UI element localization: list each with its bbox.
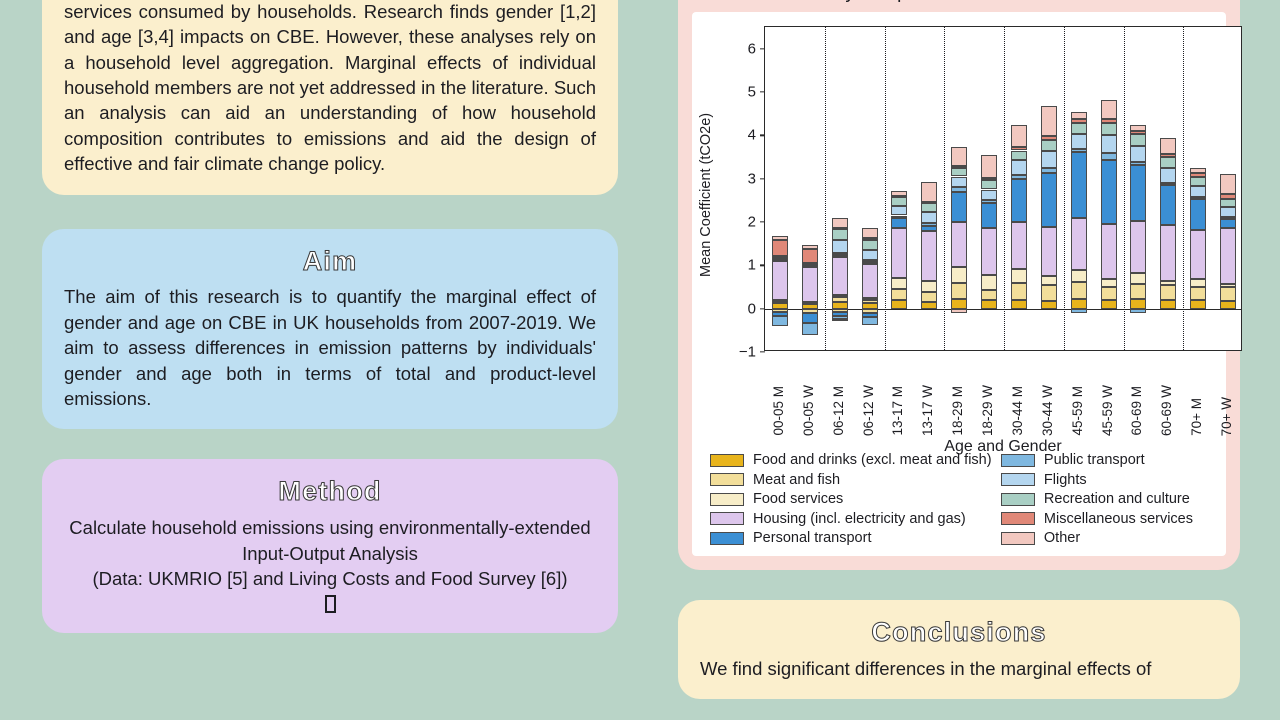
y-tick-mark [760, 178, 765, 179]
bar-stack [1011, 27, 1027, 352]
legend-column-left: Food and drinks (excl. meat and fish)Mea… [710, 452, 1001, 546]
bar-segment [1101, 287, 1117, 300]
method-panel: Method Calculate household emissions usi… [42, 459, 618, 633]
x-tick-label: 45-59 M [1070, 386, 1085, 436]
bar-segment [802, 302, 818, 304]
bar-segment [1041, 136, 1057, 140]
bar-segment [951, 177, 967, 188]
bar-segment [921, 202, 937, 204]
bar-segment [1041, 168, 1057, 174]
bar-segment [951, 283, 967, 299]
bar-segment [1220, 207, 1236, 217]
legend-swatch [1001, 473, 1035, 486]
y-tick-label: 3 [748, 170, 756, 187]
conclusions-panel: Conclusions We find significant differen… [678, 600, 1240, 699]
bar-segment [772, 261, 788, 299]
bar-segment [921, 226, 937, 231]
introduction-panel: gender and age differences of consumptio… [42, 0, 618, 195]
y-tick-mark [760, 265, 765, 266]
legend-label: Housing (incl. electricity and gas) [753, 511, 966, 527]
bar-segment [1041, 140, 1057, 151]
bar-stack [1071, 27, 1087, 352]
missing-glyph-icon [64, 595, 596, 615]
bar-segment [981, 275, 997, 289]
bar-stack [1130, 27, 1146, 352]
bar-segment [1071, 149, 1087, 152]
legend-swatch [710, 454, 744, 467]
bar-segment [1071, 152, 1087, 218]
conclusions-text: We find significant differences in the m… [700, 656, 1218, 681]
bar-segment [1130, 131, 1146, 134]
legend-label: Recreation and culture [1044, 491, 1190, 507]
bar-segment [891, 278, 907, 288]
bar-segment [1071, 299, 1087, 309]
bar-segment [1220, 301, 1236, 308]
bar-segment [1190, 186, 1206, 197]
introduction-text: gender and age differences of consumptio… [64, 0, 596, 177]
legend-item: Food services [710, 491, 1001, 507]
legend-label: Miscellaneous services [1044, 511, 1193, 527]
bar-segment [862, 264, 878, 299]
bar-segment [981, 178, 997, 180]
bar-segment [1011, 160, 1027, 174]
bar-segment [951, 168, 967, 177]
legend-item: Recreation and culture [1001, 491, 1210, 507]
bar-segment [862, 298, 878, 300]
bar-segment [772, 300, 788, 302]
bar-segment-negative [1130, 309, 1146, 314]
spacer [42, 195, 618, 229]
x-tick-label: 00-05 M [771, 386, 786, 436]
bar-segment [951, 299, 967, 309]
bar-segment [951, 187, 967, 191]
bar-segment [832, 240, 848, 253]
bar-segment [1071, 123, 1087, 134]
bar-segment [1220, 219, 1236, 229]
bar-segment [1220, 194, 1236, 199]
group-divider [885, 27, 886, 350]
method-line-2: (Data: UKMRIO [5] and Living Costs and F… [64, 566, 596, 591]
legend-swatch [1001, 512, 1035, 525]
y-axis-label: Mean Coefficient (tCO2e) [698, 60, 720, 330]
results-panel: Differences vary at a product level Mean… [678, 0, 1240, 570]
bar-segment [862, 238, 878, 240]
bar-segment [1011, 125, 1027, 147]
spacer [42, 429, 618, 459]
results-bullet: Differences vary at a product level [692, 0, 1226, 4]
bar-segment [1130, 284, 1146, 299]
left-column: gender and age differences of consumptio… [42, 0, 618, 633]
bar-segment-negative [772, 316, 788, 326]
group-divider [1064, 27, 1065, 350]
bar-segment [1160, 225, 1176, 280]
bar-segment [1041, 106, 1057, 136]
x-tick-label: 06-12 W [861, 385, 876, 436]
bar-segment [1160, 168, 1176, 183]
bar-segment [772, 236, 788, 240]
right-column: Differences vary at a product level Mean… [678, 0, 1240, 699]
legend-swatch [710, 473, 744, 486]
bar-segment [1160, 285, 1176, 300]
bar-segment [981, 155, 997, 178]
bar-stack [1220, 27, 1236, 352]
bar-segment [1130, 273, 1146, 284]
bar-segment [1071, 270, 1087, 283]
y-tick-label: 2 [748, 214, 756, 231]
y-tick-mark [760, 221, 765, 222]
bar-segment [1160, 138, 1176, 154]
y-tick-label: 5 [748, 84, 756, 101]
bar-segment [832, 255, 848, 257]
bar-segment [1101, 119, 1117, 123]
aim-title: Aim [64, 245, 596, 279]
legend-label: Personal transport [753, 530, 871, 546]
aim-text: The aim of this research is to quantify … [64, 284, 596, 411]
bar-segment [1220, 228, 1236, 284]
bar-segment [832, 229, 848, 240]
conclusions-title: Conclusions [700, 616, 1218, 650]
bar-segment [951, 166, 967, 168]
bar-segment [1071, 218, 1087, 270]
group-divider [1183, 27, 1184, 350]
bar-segment [1041, 173, 1057, 226]
bar-stack [1160, 27, 1176, 352]
legend-swatch [710, 512, 744, 525]
legend-label: Other [1044, 530, 1080, 546]
bar-segment [1130, 146, 1146, 162]
bar-segment [772, 256, 788, 258]
y-tick-label: −1 [739, 344, 756, 361]
bar-segment [772, 240, 788, 256]
bar-segment-negative [1071, 309, 1087, 313]
bar-segment [921, 203, 937, 212]
bar-segment [1130, 221, 1146, 273]
bar-segment [1130, 134, 1146, 146]
bar-segment [1160, 154, 1176, 157]
bar-segment [1101, 279, 1117, 287]
bar-segment [921, 212, 937, 224]
figure-container: Mean Coefficient (tCO2e) −10123456 00-05… [692, 12, 1226, 556]
bar-stack [921, 27, 937, 352]
x-tick-label: 00-05 W [801, 385, 816, 436]
bar-segment [1130, 165, 1146, 221]
bar-segment [1041, 301, 1057, 309]
bar-segment [832, 302, 848, 309]
legend-label: Flights [1044, 472, 1087, 488]
bar-segment [1160, 157, 1176, 167]
bar-segment [891, 206, 907, 216]
bar-segment [1190, 300, 1206, 308]
bar-segment [832, 257, 848, 295]
bar-segment [1220, 199, 1236, 208]
x-tick-label: 13-17 W [920, 385, 935, 436]
bar-stack [891, 27, 907, 352]
bar-segment [1011, 151, 1027, 161]
bar-segment [832, 295, 848, 297]
y-tick-mark [760, 48, 765, 49]
group-divider [944, 27, 945, 350]
bar-segment [1011, 283, 1027, 299]
legend-label: Food services [753, 491, 843, 507]
x-tick-label: 06-12 M [831, 386, 846, 436]
bar-segment [862, 250, 878, 260]
x-tick-label: 18-29 M [950, 386, 965, 436]
y-tick-label: 0 [748, 300, 756, 317]
poster-root: gender and age differences of consumptio… [0, 0, 1280, 720]
bar-segment [1101, 100, 1117, 119]
bar-segment [891, 218, 907, 228]
x-tick-label: 60-69 M [1129, 386, 1144, 436]
bar-segment [1160, 300, 1176, 309]
bar-segment [1041, 285, 1057, 301]
bar-segment [1011, 300, 1027, 309]
bar-segment [951, 192, 967, 222]
bar-segment-negative [802, 323, 818, 335]
y-tick-label: 4 [748, 127, 756, 144]
group-divider [825, 27, 826, 350]
legend-item: Other [1001, 530, 1210, 546]
bar-segment [862, 260, 878, 262]
bar-segment [1190, 177, 1206, 186]
bar-segment [981, 200, 997, 203]
bar-segment [1130, 299, 1146, 309]
x-axis-ticks: 00-05 M00-05 W06-12 M06-12 W13-17 M13-17… [764, 356, 1242, 436]
aim-panel: Aim The aim of this research is to quant… [42, 229, 618, 430]
x-tick-label: 30-44 W [1040, 385, 1055, 436]
bar-segment [1101, 300, 1117, 309]
bar-segment [981, 228, 997, 275]
bar-segment [921, 182, 937, 202]
bar-segment [1220, 217, 1236, 219]
stacked-bar-chart: Mean Coefficient (tCO2e) −10123456 00-05… [696, 20, 1216, 450]
bar-segment [832, 253, 848, 255]
bar-segment [891, 300, 907, 309]
bar-segment [802, 263, 818, 265]
bar-segment [1011, 269, 1027, 283]
bar-segment [1101, 123, 1117, 135]
bar-segment [981, 290, 997, 301]
bar-segment [1190, 279, 1206, 287]
x-tick-label: 18-29 W [980, 385, 995, 436]
bar-stack [862, 27, 878, 352]
bar-segment [921, 281, 937, 292]
legend-swatch [1001, 493, 1035, 506]
x-tick-label: 60-69 W [1159, 385, 1174, 436]
bar-stack [1101, 27, 1117, 352]
bar-segment [1190, 197, 1206, 199]
bar-segment [1130, 162, 1146, 165]
bar-segment [921, 302, 937, 309]
bar-stack [802, 27, 818, 352]
bar-segment [1011, 222, 1027, 269]
bar-segment [1160, 185, 1176, 225]
bar-segment [921, 223, 937, 226]
bar-segment-negative [862, 317, 878, 325]
bar-segment [891, 228, 907, 278]
bar-segment [1220, 284, 1236, 287]
legend-label: Meat and fish [753, 472, 840, 488]
bar-segment [891, 289, 907, 300]
bar-segment [1071, 119, 1087, 123]
group-divider [1124, 27, 1125, 350]
x-tick-label: 45-59 W [1100, 385, 1115, 436]
bar-segment [1071, 112, 1087, 119]
x-tick-label: 70+ M [1189, 398, 1204, 436]
bar-stack [1190, 27, 1206, 352]
legend-swatch [710, 532, 744, 545]
bar-segment [891, 216, 907, 218]
legend-swatch [710, 493, 744, 506]
bar-segment [1160, 281, 1176, 285]
y-tick-mark [760, 135, 765, 136]
bar-segment [981, 190, 997, 201]
x-axis-label: Age and Gender [764, 438, 1242, 456]
x-tick-label: 70+ W [1219, 397, 1234, 436]
x-tick-label: 30-44 M [1010, 386, 1025, 436]
legend-item: Housing (incl. electricity and gas) [710, 511, 1001, 527]
bar-segment [1190, 287, 1206, 300]
bar-segment [1220, 287, 1236, 301]
plot-area: −10123456 [764, 26, 1242, 351]
results-bullet-text: Differences vary at a product level [718, 0, 1005, 4]
bar-segment [802, 249, 818, 263]
bar-segment-negative [832, 319, 848, 322]
bar-segment [832, 218, 848, 228]
bar-segment [1011, 175, 1027, 179]
bar-segment [1101, 153, 1117, 161]
bar-segment [951, 147, 967, 166]
y-tick-mark [760, 351, 765, 352]
bar-segment [1160, 183, 1176, 185]
bar-segment [832, 228, 848, 230]
bar-segment [1011, 179, 1027, 222]
spacer [678, 570, 1240, 600]
chart-legend: Food and drinks (excl. meat and fish)Mea… [696, 450, 1216, 548]
bar-stack [951, 27, 967, 352]
bar-segment [921, 292, 937, 302]
y-tick-mark [760, 91, 765, 92]
bar-segment [981, 203, 997, 228]
bar-segment [1190, 173, 1206, 177]
legend-item: Flights [1001, 472, 1210, 488]
legend-item: Miscellaneous services [1001, 511, 1210, 527]
bar-segment [1011, 147, 1027, 150]
bar-segment [921, 231, 937, 281]
legend-column-right: Public transportFlightsRecreation and cu… [1001, 452, 1210, 546]
bar-segment [1190, 230, 1206, 279]
bar-segment [862, 240, 878, 250]
bar-segment [891, 197, 907, 205]
bar-segment [1041, 227, 1057, 276]
bar-segment [1041, 151, 1057, 167]
bar-stack [832, 27, 848, 352]
bar-segment [832, 297, 848, 302]
bar-segment [1130, 125, 1146, 131]
bar-segment [802, 245, 818, 248]
y-tick-label: 1 [748, 257, 756, 274]
bar-segment [862, 228, 878, 238]
legend-item: Personal transport [710, 530, 1001, 546]
bar-segment [891, 191, 907, 196]
bar-segment [951, 222, 967, 267]
bar-segment [1101, 160, 1117, 224]
bar-segment [862, 262, 878, 264]
bar-stack [1041, 27, 1057, 352]
bar-stack [772, 27, 788, 352]
bar-stack [981, 27, 997, 352]
x-tick-label: 13-17 M [890, 386, 905, 436]
bar-segment [1071, 134, 1087, 150]
y-tick-label: 6 [748, 40, 756, 57]
bar-segment [981, 300, 997, 308]
legend-swatch [1001, 532, 1035, 545]
bar-segment-negative [802, 313, 818, 323]
method-title: Method [64, 475, 596, 509]
bar-segment [802, 267, 818, 302]
bar-segment [981, 180, 997, 190]
bar-segment [1101, 224, 1117, 279]
group-divider [1004, 27, 1005, 350]
bar-segment [951, 267, 967, 283]
bar-segment [1220, 174, 1236, 194]
bar-segment-negative [951, 309, 967, 313]
bar-segment [891, 196, 907, 198]
method-line-1: Calculate household emissions using envi… [64, 515, 596, 566]
bar-segment [1190, 168, 1206, 173]
bar-segment [772, 258, 788, 260]
bar-segment [1190, 199, 1206, 230]
bar-segment [1071, 282, 1087, 298]
legend-item: Meat and fish [710, 472, 1001, 488]
bar-segment [1101, 135, 1117, 152]
bar-segment [1041, 276, 1057, 285]
